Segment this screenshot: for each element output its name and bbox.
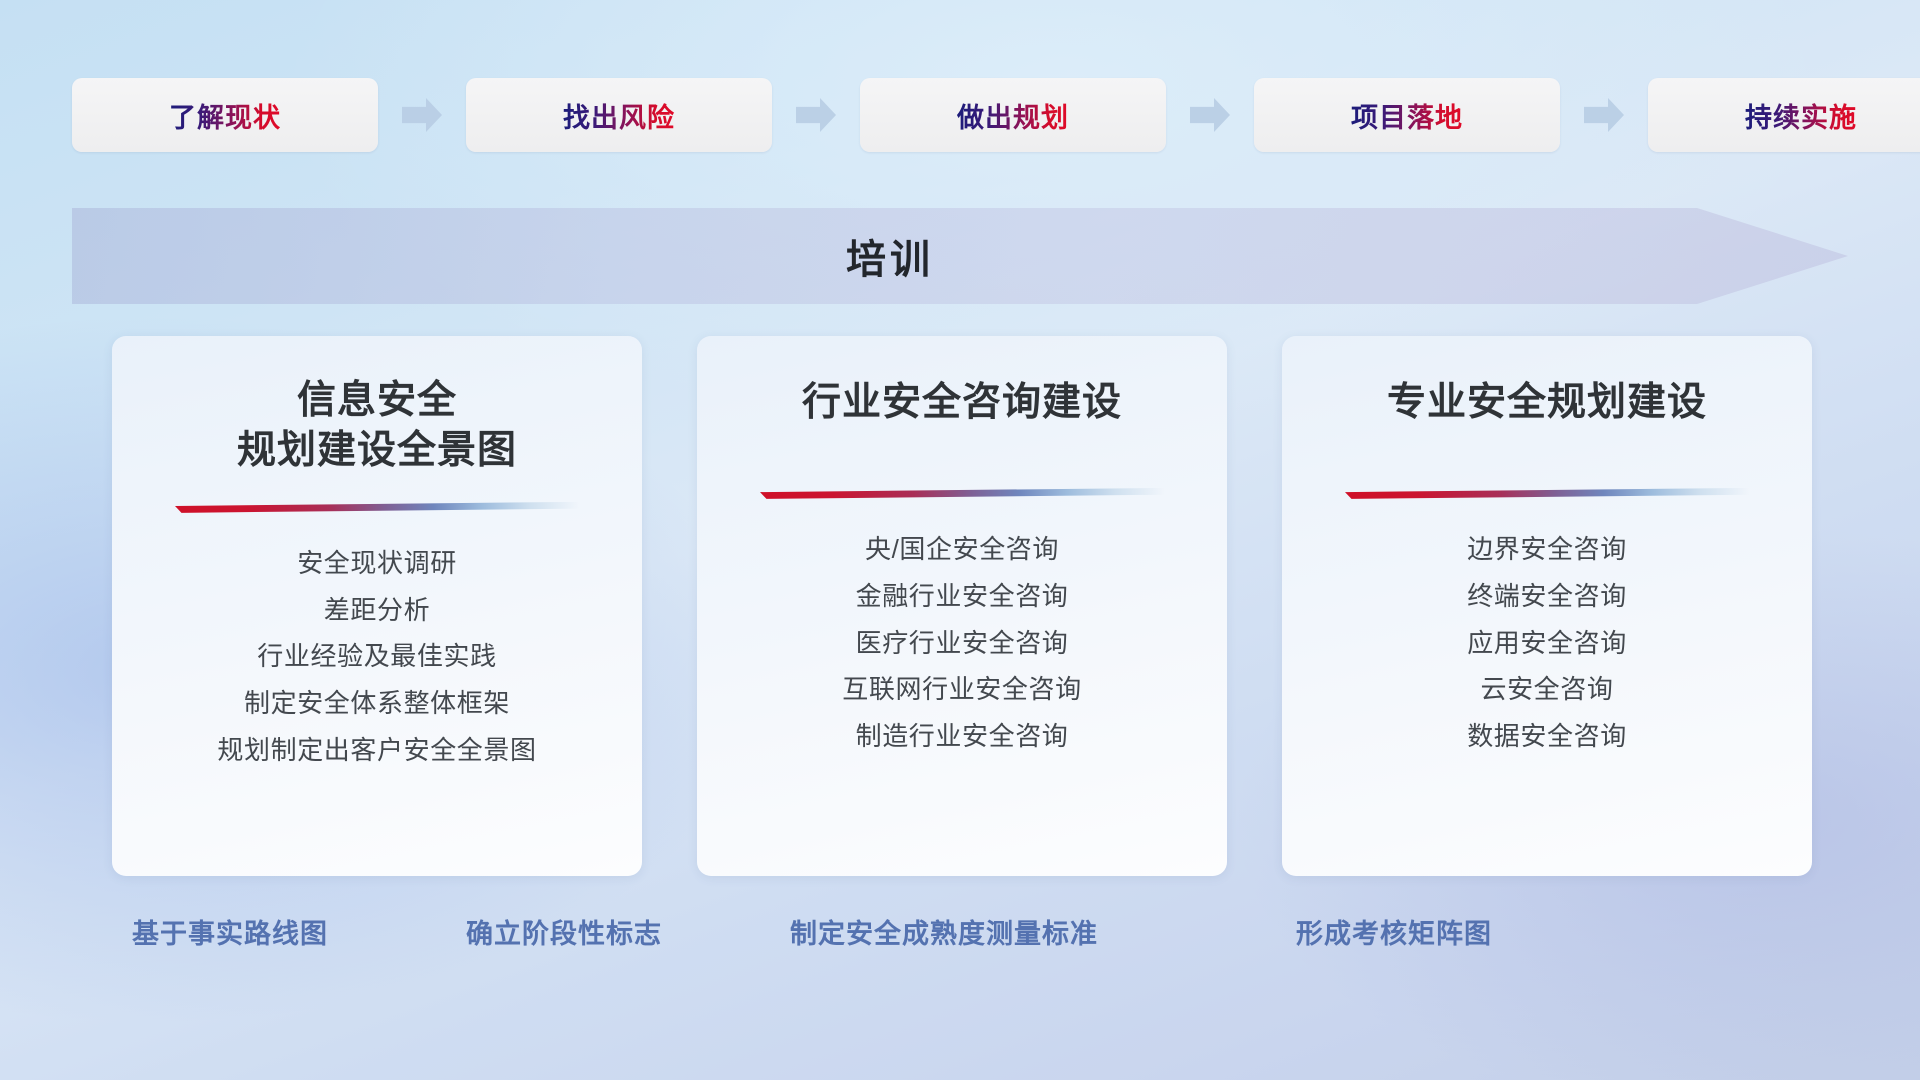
card-title-line-1: 信息安全 bbox=[237, 376, 517, 426]
card-item-list: 边界安全咨询终端安全咨询应用安全咨询云安全咨询数据安全咨询 bbox=[1316, 533, 1778, 754]
list-item[interactable]: 数据安全咨询 bbox=[1467, 720, 1627, 754]
process-step-1: 了解现状 bbox=[72, 78, 378, 152]
card-title: 专业安全规划建设 bbox=[1387, 378, 1707, 428]
footnote-label: 制定安全成熟度测量标准 bbox=[790, 912, 1098, 951]
list-item[interactable]: 互联网行业安全咨询 bbox=[842, 673, 1081, 707]
list-item[interactable]: 应用安全咨询 bbox=[1467, 627, 1627, 661]
arrow-right-icon bbox=[1190, 98, 1230, 132]
card-item-list: 央/国企安全咨询金融行业安全咨询医疗行业安全咨询互联网行业安全咨询制造行业安全咨… bbox=[731, 533, 1193, 754]
slide-canvas: 了解现状找出风险做出规划项目落地持续实施 培训 信息安全规划建设全景图安全现状调… bbox=[0, 0, 1920, 1080]
card-item-list: 安全现状调研差距分析行业经验及最佳实践制定安全体系整体框架规划制定出客户安全全景… bbox=[146, 547, 608, 768]
list-item[interactable]: 安全现状调研 bbox=[297, 547, 457, 581]
process-step-row: 了解现状找出风险做出规划项目落地持续实施 bbox=[72, 78, 1848, 152]
card-title-line-2: 规划建设全景图 bbox=[237, 426, 517, 476]
arrow-right-icon bbox=[402, 98, 442, 132]
footnote-row: 基于事实路线图确立阶段性标志制定安全成熟度测量标准形成考核矩阵图 bbox=[0, 912, 1920, 972]
process-step-label: 项目落地 bbox=[1351, 96, 1463, 135]
footnote-label: 确立阶段性标志 bbox=[466, 912, 662, 951]
capability-card-row: 信息安全规划建设全景图安全现状调研差距分析行业经验及最佳实践制定安全体系整体框架… bbox=[112, 336, 1812, 876]
card-title-line-1: 专业安全规划建设 bbox=[1387, 378, 1707, 428]
process-step-button[interactable]: 项目落地 bbox=[1254, 78, 1560, 152]
process-step-button[interactable]: 找出风险 bbox=[466, 78, 772, 152]
arrow-right-icon bbox=[796, 98, 836, 132]
banner-title: 培训 bbox=[846, 227, 934, 285]
process-step-5: 持续实施 bbox=[1560, 78, 1920, 152]
card-title-line-1: 行业安全咨询建设 bbox=[802, 378, 1122, 428]
process-step-button[interactable]: 了解现状 bbox=[72, 78, 378, 152]
list-item[interactable]: 规划制定出客户安全全景图 bbox=[217, 734, 536, 768]
process-step-4: 项目落地 bbox=[1166, 78, 1560, 152]
process-step-label: 持续实施 bbox=[1745, 96, 1857, 135]
list-item[interactable]: 终端安全咨询 bbox=[1467, 580, 1627, 614]
process-step-label: 了解现状 bbox=[169, 96, 281, 135]
card-title: 信息安全规划建设全景图 bbox=[237, 376, 517, 476]
list-item[interactable]: 央/国企安全咨询 bbox=[865, 533, 1059, 567]
capability-card[interactable]: 专业安全规划建设边界安全咨询终端安全咨询应用安全咨询云安全咨询数据安全咨询 bbox=[1282, 336, 1812, 876]
capability-card[interactable]: 行业安全咨询建设央/国企安全咨询金融行业安全咨询医疗行业安全咨询互联网行业安全咨… bbox=[697, 336, 1227, 876]
arrow-right-icon bbox=[1584, 98, 1624, 132]
list-item[interactable]: 制造行业安全咨询 bbox=[856, 720, 1069, 754]
process-step-2: 找出风险 bbox=[378, 78, 772, 152]
list-item[interactable]: 云安全咨询 bbox=[1480, 673, 1613, 707]
process-step-label: 做出规划 bbox=[957, 96, 1069, 135]
footnote-label: 基于事实路线图 bbox=[132, 912, 328, 951]
list-item[interactable]: 行业经验及最佳实践 bbox=[257, 640, 496, 674]
process-step-button[interactable]: 做出规划 bbox=[860, 78, 1166, 152]
card-divider-slot bbox=[146, 502, 608, 513]
list-item[interactable]: 边界安全咨询 bbox=[1467, 533, 1627, 567]
card-divider-slot bbox=[731, 488, 1193, 499]
process-step-label: 找出风险 bbox=[563, 96, 675, 135]
process-step-button[interactable]: 持续实施 bbox=[1648, 78, 1920, 152]
card-divider-slot bbox=[1316, 488, 1778, 499]
card-accent-divider bbox=[175, 502, 579, 513]
process-step-3: 做出规划 bbox=[772, 78, 1166, 152]
card-title: 行业安全咨询建设 bbox=[802, 378, 1122, 428]
list-item[interactable]: 医疗行业安全咨询 bbox=[856, 627, 1069, 661]
capability-card[interactable]: 信息安全规划建设全景图安全现状调研差距分析行业经验及最佳实践制定安全体系整体框架… bbox=[112, 336, 642, 876]
list-item[interactable]: 差距分析 bbox=[324, 594, 430, 628]
card-accent-divider bbox=[1345, 488, 1749, 499]
training-banner: 培训 bbox=[72, 208, 1848, 304]
list-item[interactable]: 金融行业安全咨询 bbox=[856, 580, 1069, 614]
card-accent-divider bbox=[760, 488, 1164, 499]
footnote-label: 形成考核矩阵图 bbox=[1296, 912, 1492, 951]
list-item[interactable]: 制定安全体系整体框架 bbox=[244, 687, 510, 721]
